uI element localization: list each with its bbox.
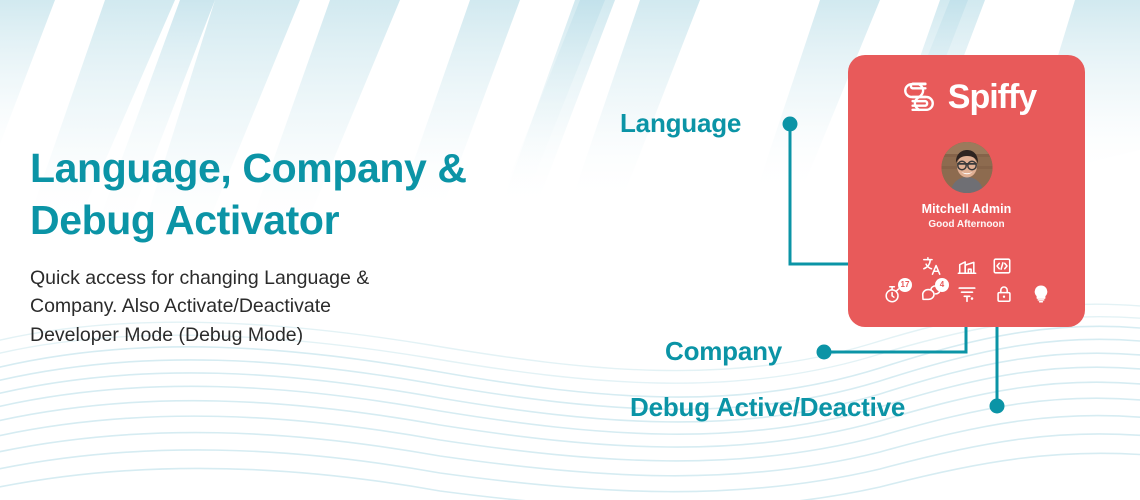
secondary-icon-row: 17 4 [848,283,1085,304]
spiffy-logo-icon [897,75,941,119]
brand-name: Spiffy [948,80,1036,114]
user-greeting: Good Afternoon [848,219,1085,230]
connector-dot-language [783,117,798,132]
user-name: Mitchell Admin [848,202,1085,216]
tips-bulb-icon[interactable] [1030,283,1051,304]
company-building-icon[interactable] [956,255,977,276]
language-translate-icon[interactable] [921,255,942,276]
primary-icon-row [848,255,1085,276]
messages-chat-icon[interactable]: 4 [919,283,940,304]
callout-label-debug: Debug Active/Deactive [630,392,905,423]
debug-code-icon[interactable] [991,255,1012,276]
tasks-filter-icon[interactable] [956,283,977,304]
avatar-photo [941,142,992,193]
promo-banner: Language, Company & Debug Activator Quic… [0,0,1140,500]
activity-timer-icon[interactable]: 17 [882,283,903,304]
messages-badge: 4 [935,278,949,292]
user-profile-card: Spiffy Mitchell Admin Good Afternoon [848,55,1085,327]
avatar [941,142,992,193]
connector-dot-debug [990,399,1005,414]
brand-lockup: Spiffy [848,75,1085,119]
connector-dot-company [817,345,832,360]
security-lock-icon[interactable] [993,283,1014,304]
callout-label-company: Company [665,336,782,367]
callout-label-language: Language [620,108,741,139]
activity-badge: 17 [898,278,912,292]
